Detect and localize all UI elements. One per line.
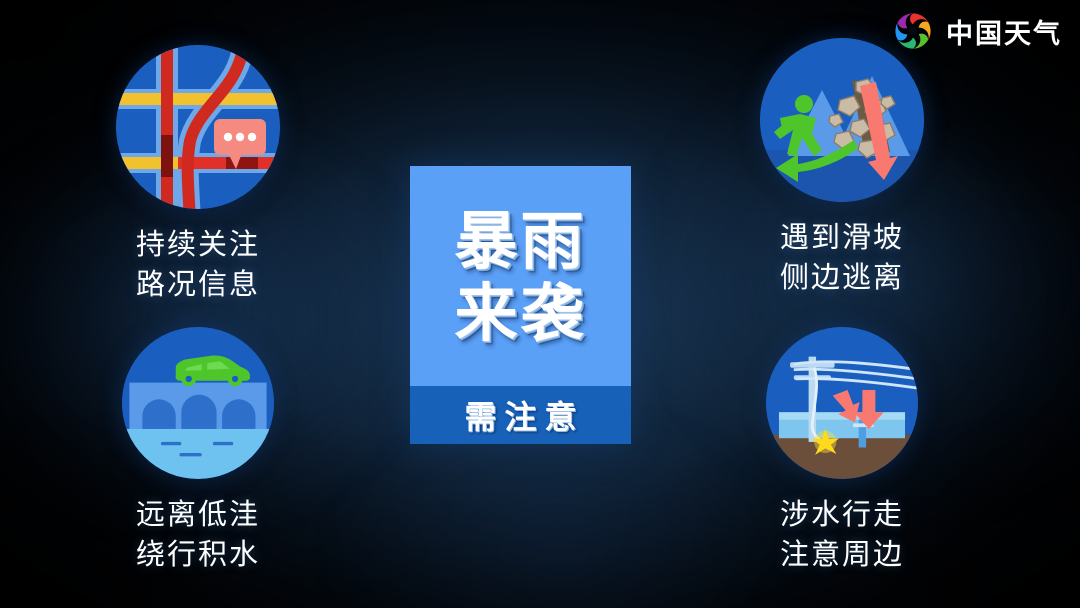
tip-label-traffic: 持续关注 路况信息 [136, 225, 260, 305]
title-line-1: 暴雨 [455, 210, 587, 274]
subtitle-band: 需注意 [410, 386, 631, 444]
tip-avoid-lowland: 远离低洼 绕行积水 [78, 327, 318, 575]
bridge-car-flood-icon [122, 327, 274, 479]
pinwheel-logo-icon [891, 9, 935, 53]
title-line-2: 来袭 [455, 282, 587, 346]
tip-label-line-1: 遇到滑坡 [780, 218, 904, 258]
tip-traffic-conditions: 持续关注 路况信息 [78, 45, 318, 305]
tip-label-line-2: 侧边逃离 [780, 258, 904, 298]
main-title-panel: 暴雨 来袭 需注意 [410, 166, 631, 444]
tip-label-line-2: 路况信息 [136, 265, 260, 305]
tip-label-lowland: 远离低洼 绕行积水 [136, 495, 260, 575]
brand-logo: 中国天气 [891, 9, 1062, 53]
tip-landslide-escape: 遇到滑坡 侧边逃离 [722, 38, 962, 298]
tip-label-landslide: 遇到滑坡 侧边逃离 [780, 218, 904, 298]
tip-label-line-2: 注意周边 [780, 535, 904, 575]
tip-label-line-1: 持续关注 [136, 225, 260, 265]
main-title-text: 暴雨 来袭 [410, 166, 631, 386]
tip-label-wading: 涉水行走 注意周边 [780, 495, 904, 575]
poster-canvas: 中国天气 暴雨 来袭 需注意 [0, 0, 1080, 608]
road-map-traffic-icon [116, 45, 280, 209]
tip-label-line-1: 远离低洼 [136, 495, 260, 535]
tip-label-line-1: 涉水行走 [780, 495, 904, 535]
brand-name: 中国天气 [946, 12, 1062, 51]
tip-wading-caution: 涉水行走 注意周边 [722, 327, 962, 575]
power-line-flood-icon [766, 327, 918, 479]
subtitle-text: 需注意 [456, 392, 584, 438]
tip-label-line-2: 绕行积水 [136, 535, 260, 575]
landslide-running-person-icon [760, 38, 924, 202]
